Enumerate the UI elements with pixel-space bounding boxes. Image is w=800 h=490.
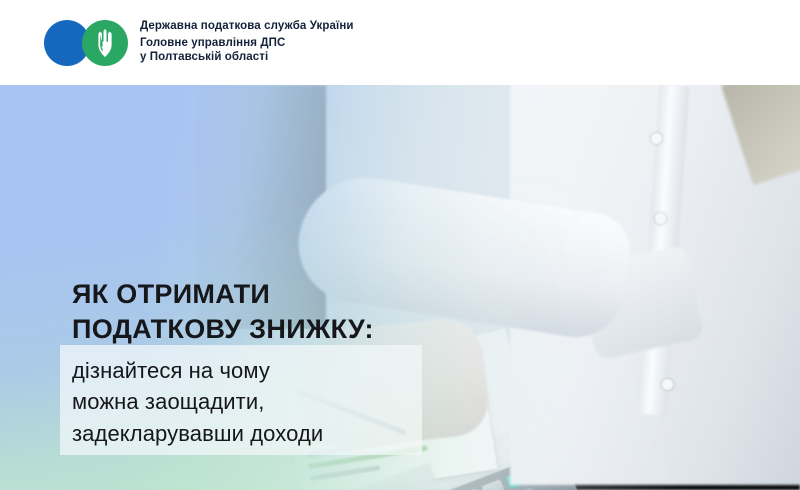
subtitle-line-2: можна заощадити, xyxy=(72,386,323,417)
org-line-2: Головне управління ДПС xyxy=(140,38,354,50)
page-title: ЯК ОТРИМАТИ ПОДАТКОВУ ЗНИЖКУ: xyxy=(72,277,374,347)
organization-name: Державна податкова служба України Головн… xyxy=(140,21,354,64)
headline-line-2: ПОДАТКОВУ ЗНИЖКУ: xyxy=(72,312,374,347)
org-line-1: Державна податкова служба України xyxy=(140,21,354,33)
headline-line-1: ЯК ОТРИМАТИ xyxy=(72,277,374,312)
org-line-3: у Полтавській області xyxy=(140,52,354,64)
hero-banner: ЯК ОТРИМАТИ ПОДАТКОВУ ЗНИЖКУ: дізнайтеся… xyxy=(0,85,800,490)
page-subtitle: дізнайтеся на чому можна заощадити, заде… xyxy=(72,355,323,449)
banner-page: Державна податкова служба України Головн… xyxy=(0,0,800,490)
subtitle-line-1: дізнайтеся на чому xyxy=(72,355,323,386)
subtitle-line-3: задекларувавши доходи xyxy=(72,418,323,449)
dps-logo xyxy=(44,20,130,66)
ukraine-trident-icon xyxy=(96,28,114,58)
site-header: Державна податкова служба України Головн… xyxy=(0,0,800,85)
